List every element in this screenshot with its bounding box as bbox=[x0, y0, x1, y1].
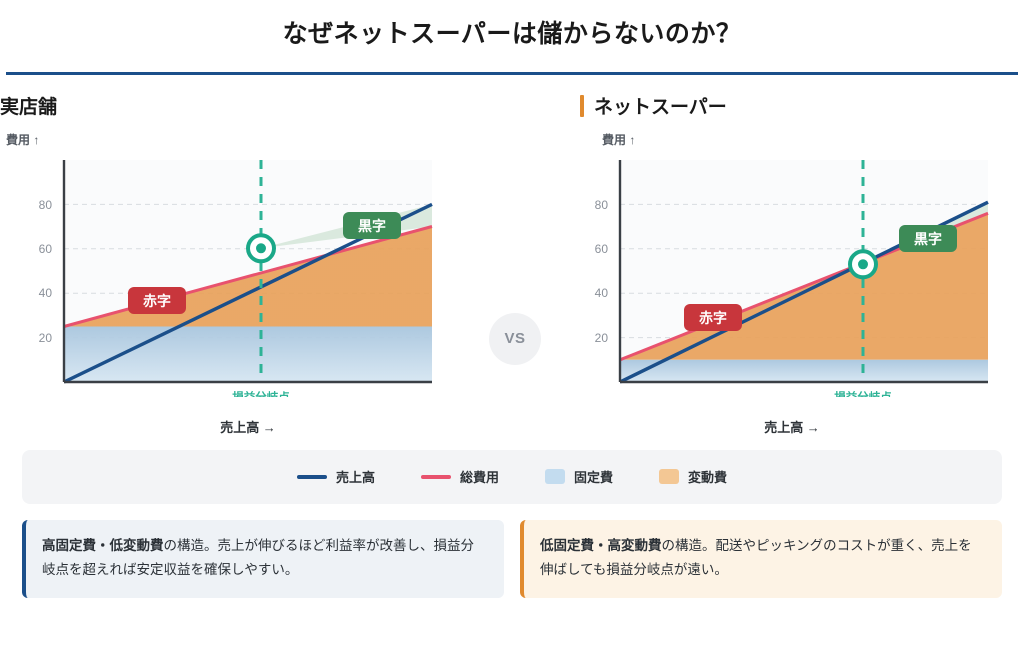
fixed-cost-area-right bbox=[620, 359, 988, 381]
loss-badge-right: 赤字 bbox=[684, 304, 742, 331]
profit-badge-right: 黒字 bbox=[899, 225, 957, 252]
svg-text:80: 80 bbox=[595, 198, 609, 212]
svg-text:60: 60 bbox=[595, 242, 609, 256]
chart-svg-right: 80 60 40 20 赤字 黒字 損益分岐点 bbox=[584, 152, 996, 397]
panel-heading-net-supermarket: ネットスーパー bbox=[512, 93, 1024, 119]
page-header: なぜネットスーパーは儲からないのか？ bbox=[0, 0, 1024, 75]
breakeven-marker-right bbox=[850, 251, 876, 277]
x-axis-title-right: 売上高 → bbox=[608, 417, 976, 436]
note-net-supermarket: 低固定費・高変動費の構造。配送やピッキングのコストが重く、売上を伸ばしても損益分… bbox=[520, 520, 1002, 599]
profit-badge-label-left: 黒字 bbox=[358, 218, 386, 234]
page-title: なぜネットスーパーは儲からないのか？ bbox=[0, 0, 1024, 51]
loss-badge-label-right: 赤字 bbox=[699, 310, 727, 326]
breakeven-marker-left bbox=[248, 235, 274, 261]
note-physical-store: 高固定費・低変動費の構造。売上が伸びるほど利益率が改善し、損益分岐点を超えれば安… bbox=[22, 520, 504, 599]
legend-label-fixed-cost: 固定費 bbox=[574, 467, 613, 486]
panel-physical-store: 実店舗 費用 ↑ bbox=[0, 75, 512, 436]
y-tick-labels-left: 80 60 40 20 bbox=[39, 198, 53, 345]
breakeven-caption-left: 損益分岐点 bbox=[232, 390, 290, 397]
svg-text:60: 60 bbox=[39, 242, 53, 256]
y-tick-labels-right: 80 60 40 20 bbox=[595, 198, 609, 345]
legend-line-total-cost-icon bbox=[421, 475, 451, 479]
svg-text:20: 20 bbox=[39, 331, 53, 345]
y-axis-title-left: 費用 ↑ bbox=[6, 131, 512, 148]
chart-net-supermarket: 80 60 40 20 赤字 黒字 損益分岐点 bbox=[584, 152, 1024, 397]
legend-item-fixed-cost: 固定費 bbox=[545, 467, 613, 486]
vs-badge: VS bbox=[489, 313, 541, 365]
svg-text:80: 80 bbox=[39, 198, 53, 212]
legend-line-revenue-icon bbox=[297, 475, 327, 479]
x-axis-title-left: 売上高 → bbox=[64, 417, 432, 436]
legend-item-total-cost: 総費用 bbox=[421, 467, 499, 486]
accent-bar-icon bbox=[580, 95, 584, 117]
panel-net-supermarket: ネットスーパー 費用 ↑ bbox=[512, 75, 1024, 436]
panel-heading-physical-store: 実店舗 bbox=[0, 93, 512, 119]
loss-badge-left: 赤字 bbox=[128, 287, 186, 314]
profit-badge-label-right: 黒字 bbox=[914, 231, 942, 247]
legend-swatch-variable-cost-icon bbox=[659, 469, 679, 484]
legend-item-revenue: 売上高 bbox=[297, 467, 375, 486]
legend-label-total-cost: 総費用 bbox=[460, 467, 499, 486]
svg-text:40: 40 bbox=[39, 286, 53, 300]
breakeven-caption-right: 損益分岐点 bbox=[834, 390, 892, 397]
y-axis-title-right: 費用 ↑ bbox=[602, 131, 1024, 148]
note-strong-left: 高固定費・低変動費 bbox=[42, 538, 164, 553]
profit-badge-left: 黒字 bbox=[343, 212, 401, 239]
chart-legend: 売上高 総費用 固定費 変動費 bbox=[22, 450, 1002, 504]
svg-text:40: 40 bbox=[595, 286, 609, 300]
legend-item-variable-cost: 変動費 bbox=[659, 467, 727, 486]
panel-title-label: ネットスーパー bbox=[594, 92, 727, 119]
note-strong-right: 低固定費・高変動費 bbox=[540, 538, 662, 553]
chart-svg-left: 80 60 40 20 赤字 黒字 bbox=[0, 152, 440, 397]
legend-label-variable-cost: 変動費 bbox=[688, 467, 727, 486]
comparison-panels: 実店舗 費用 ↑ bbox=[0, 75, 1024, 436]
summary-notes: 高固定費・低変動費の構造。売上が伸びるほど利益率が改善し、損益分岐点を超えれば安… bbox=[22, 520, 1002, 599]
legend-swatch-fixed-cost-icon bbox=[545, 469, 565, 484]
legend-label-revenue: 売上高 bbox=[336, 467, 375, 486]
loss-badge-label-left: 赤字 bbox=[143, 293, 171, 309]
panel-title-label: 実店舗 bbox=[0, 92, 57, 119]
svg-text:20: 20 bbox=[595, 331, 609, 345]
chart-physical-store: 80 60 40 20 赤字 黒字 bbox=[0, 152, 512, 397]
